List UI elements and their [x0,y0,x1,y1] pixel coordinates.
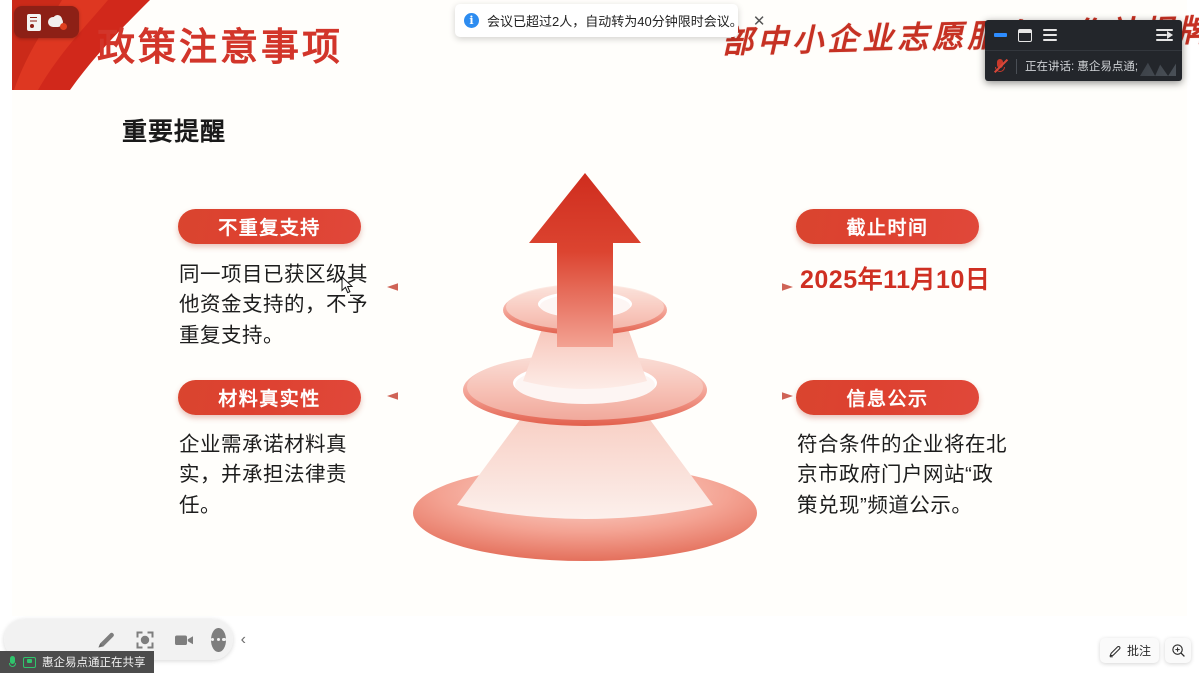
spotlight-button[interactable] [133,628,157,652]
slide-logo-badge [14,6,79,38]
mic-icon[interactable] [8,656,17,669]
video-camera-icon [172,628,196,652]
screen-share-icon[interactable] [23,657,36,668]
close-icon[interactable]: ✕ [751,12,768,29]
slide-right-margin [1187,0,1199,616]
video-button[interactable] [172,628,196,652]
page-title: 政策注意事项 [97,28,343,66]
zoom-panel-header [985,20,1182,50]
text-material-authenticity: 企业需承诺材料真实，并承担法律责任。 [179,430,379,521]
pill-deadline: 截止时间 [796,209,979,244]
pill-material-authenticity: 材料真实性 [178,380,361,415]
text-information-disclosure: 符合条件的企业将在北京市政府门户网站“政策兑现”频道公示。 [797,430,1007,521]
avatar [1140,57,1176,76]
text-deadline-date: 2025年11月10日 [800,260,990,296]
share-status-bar: 惠企易点通正在共享 [0,651,154,673]
restore-window-icon[interactable] [1018,29,1032,42]
cloud-icon [48,15,66,29]
document-icon [27,14,41,31]
annotate-button[interactable]: 批注 [1100,638,1159,663]
screen-share-view: 政策注意事项 重要提醒 [0,0,1199,673]
meeting-notification-toast: i 会议已超过2人，自动转为40分钟限时会议。 ✕ [455,4,738,37]
zoom-in-icon [1171,643,1186,658]
connector-arrow-left-top [385,282,565,292]
share-status-text: 惠企易点通正在共享 [42,654,146,670]
more-dots-icon [211,638,214,641]
annotate-label: 批注 [1127,642,1151,659]
divider [1016,59,1017,74]
more-button[interactable] [211,628,226,652]
mouse-cursor [341,276,355,295]
spotlight-icon [133,628,157,652]
presentation-slide: 政策注意事项 重要提醒 [0,0,1199,616]
expand-sidebar-icon[interactable] [1156,29,1173,42]
collapse-button[interactable]: ‹ [241,631,246,649]
pen-button[interactable] [94,628,118,652]
list-view-icon[interactable] [1043,29,1057,41]
connector-arrow-right-top [615,282,795,292]
connector-arrow-left-bottom [385,391,565,401]
annotation-controls: 批注 [1100,638,1191,663]
slide-left-margin [0,0,12,616]
zoom-speaker-row: 正在讲话: 惠企易点通; [985,50,1182,81]
pill-no-duplicate-support: 不重复支持 [178,209,361,244]
text-no-duplicate-support: 同一项目已获区级其他资金支持的，不予重复支持。 [179,260,384,351]
mic-muted-icon[interactable] [993,58,1008,74]
minimize-icon[interactable] [994,33,1007,37]
connector-arrow-right-bottom [615,391,795,401]
prev-slide-button[interactable] [16,628,40,652]
zoom-in-button[interactable] [1165,638,1191,663]
notification-message: 会议已超过2人，自动转为40分钟限时会议。 [487,11,743,30]
zoom-floating-panel[interactable]: 正在讲话: 惠企易点通; [985,20,1182,81]
info-icon: i [464,13,479,28]
arrow-funnel-graphic [395,165,775,575]
active-speaker-label: 正在讲话: 惠企易点通; [1025,58,1138,74]
pill-information-disclosure: 信息公示 [796,380,979,415]
next-slide-button[interactable] [55,628,79,652]
pen-icon [94,628,118,652]
pen-annotate-icon [1108,644,1122,658]
slide-subtitle: 重要提醒 [122,112,226,148]
